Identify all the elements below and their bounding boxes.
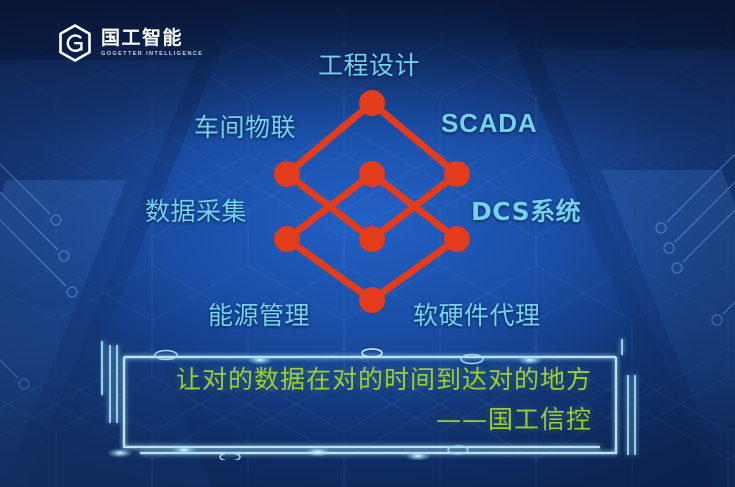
diagram-edge	[287, 103, 372, 174]
slide-canvas: 国工智能 GOGETTER INTELLIGENCE 工程设计车间物联SCADA…	[0, 0, 735, 487]
diagram-node-mid-upper-left[interactable]	[274, 161, 300, 187]
diagram-label-dcs-system: DCS系统	[471, 192, 581, 228]
diagram-node-mid-lower-left[interactable]	[274, 226, 300, 252]
diagram-node-bottom[interactable]	[359, 287, 385, 313]
quote-frame: 让对的数据在对的时间到达对的地方 ——国工信控	[100, 335, 640, 460]
diagram-edge	[287, 239, 372, 300]
quote-line-1: 让对的数据在对的时间到达对的地方	[176, 360, 592, 396]
diagram-node-mid-lower-right[interactable]	[444, 226, 470, 252]
diagram-label-energy-management: 能源管理	[208, 296, 310, 332]
diagram-label-software-hardware-agency: 软硬件代理	[413, 296, 541, 332]
diagram-label-scada: SCADA	[441, 108, 537, 139]
diagram-label-engineering-design: 工程设计	[318, 46, 420, 82]
diagram-label-data-acquisition: 数据采集	[145, 192, 247, 228]
diagram-node-mid-upper-right[interactable]	[444, 161, 470, 187]
diagram-edge	[372, 239, 457, 300]
quote-attribution: ——国工信控	[436, 400, 592, 436]
diagram-node-top[interactable]	[359, 90, 385, 116]
diagram-edges	[287, 103, 457, 300]
diagram-label-workshop-iot: 车间物联	[194, 108, 296, 144]
diagram-node-mid-upper-center[interactable]	[359, 161, 385, 187]
diagram-node-mid-lower-center[interactable]	[359, 226, 385, 252]
